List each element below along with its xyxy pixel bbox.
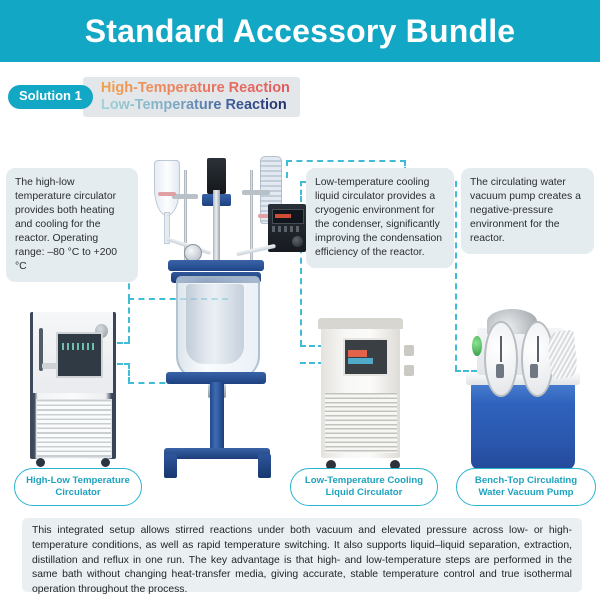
solution-row: Solution 1 High-Temperature Reaction Low… [8,78,300,116]
pump-power-indicator-icon [472,336,482,357]
pump-valve-right [530,364,538,378]
pump-water-tank [471,382,576,470]
summary-paragraph: This integrated setup allows stirred rea… [22,518,582,592]
label-low-temperature-cooling-liquid-circulator: Low-Temperature Cooling Liquid Circulato… [290,468,438,506]
callout-cooling-circulator: Low-temperature cooling liquid circulato… [306,168,454,268]
high-temperature-reaction-label: High-Temperature Reaction [101,80,290,97]
reactor-clamp-right [242,190,270,195]
reactor-stand-column [210,382,224,454]
header-bar: Standard Accessory Bundle [0,0,600,62]
reactor-stand-crossbar [164,448,270,459]
circulator-display [56,332,103,378]
label-bench-top-circulating-water-vacuum-pump: Bench-Top Circulating Water Vacuum Pump [456,468,596,506]
chiller-vent-grille [325,393,397,453]
circulator-vent-grille [36,399,112,458]
bench-top-circulating-water-vacuum-pump-image [466,312,580,470]
circulator-caster-left [36,458,45,467]
reactor-addition-funnel [154,160,180,216]
reactor-stand-foot-right [258,454,271,478]
pump-valve-left [496,364,504,378]
page-title: Standard Accessory Bundle [85,15,516,47]
jacketed-glass-reactor-image [150,148,310,488]
low-temperature-reaction-label: Low-Temperature Reaction [101,97,290,114]
circulator-handle [42,363,57,369]
reactor-controller-buttons[interactable] [272,226,302,232]
callout-vacuum-pump: The circulating water vacuum pump create… [461,168,594,254]
label-high-low-temperature-circulator: High-Low Temperature Circulator [14,468,142,506]
pump-vacuum-gauge-left-icon [484,321,518,398]
circulator-caster-right [101,458,110,467]
chiller-port-lower [404,365,414,376]
chiller-port-group [404,345,414,378]
poster-canvas: Standard Accessory Bundle Solution 1 Hig… [0,0,600,600]
high-low-temperature-circulator-image [30,312,116,467]
callout-high-low-circulator: The high-low temperature circulator prov… [6,168,138,282]
reactor-support-rod-right [250,170,253,260]
reactor-controller-knob[interactable] [292,236,303,247]
reactor-stirrer-motor [207,158,226,194]
reactor-joint-clip-left [158,192,176,196]
reactor-stand-foot-left [164,454,177,478]
low-temperature-cooling-liquid-circulator-image [318,318,408,468]
connector-left-lower-vertical [128,363,130,383]
reactor-clamp-left [172,194,198,199]
pump-hose [547,330,579,380]
chiller-display [343,338,388,377]
reactor-controller-display [272,209,304,224]
connector-left-upper-vertical [128,298,130,342]
solution-badge: Solution 1 [8,85,93,108]
reaction-panel: High-Temperature Reaction Low-Temperatur… [83,77,300,117]
connector-right-spine [455,181,457,371]
reactor-lid-flange-upper [168,260,264,271]
chiller-top-cap [318,318,403,329]
reactor-inner-vessel [186,284,244,364]
chiller-port-upper [404,345,414,356]
reactor-stirrer-shaft [213,190,220,264]
